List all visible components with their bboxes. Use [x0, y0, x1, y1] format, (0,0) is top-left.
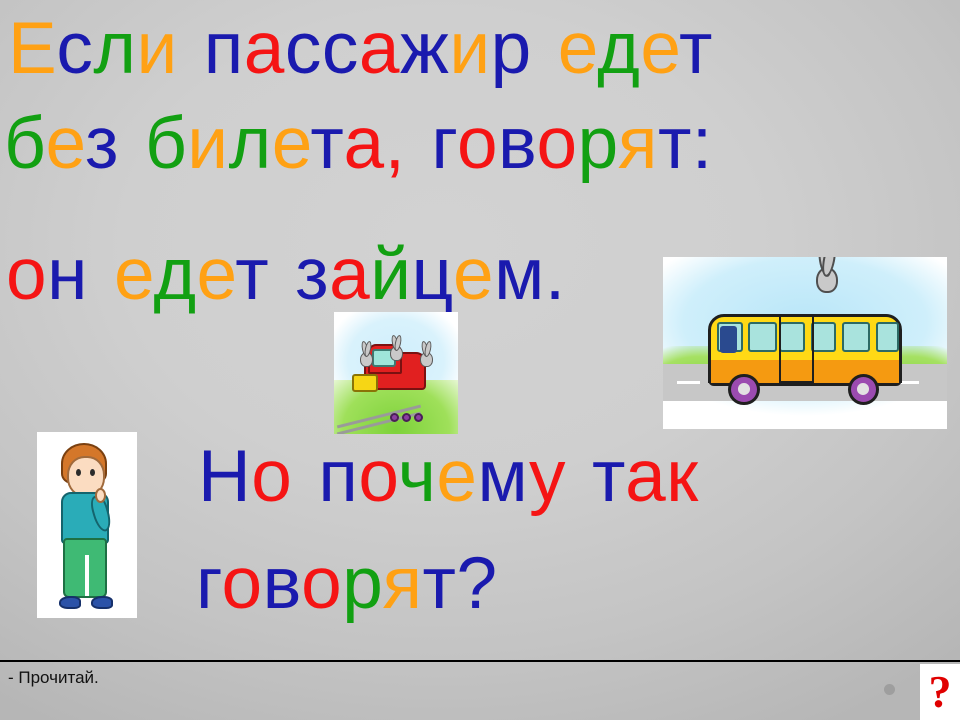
letter-т: т: [679, 8, 713, 89]
letter-с: с: [56, 8, 93, 89]
rabbit-icon: [420, 352, 433, 367]
boy-shoe: [91, 596, 113, 609]
letter-е: е: [197, 234, 236, 315]
letter-е: е: [453, 234, 494, 315]
letter-Е: Е: [8, 8, 56, 89]
letter-з: з: [85, 103, 119, 184]
letter-п: п: [318, 436, 358, 517]
letter-,: ,: [385, 103, 406, 184]
letter-с: с: [322, 8, 359, 89]
letter-м: м: [478, 436, 530, 517]
text-line-5: говорят?: [196, 547, 498, 620]
text-line-2: безбилета,говорят:: [4, 107, 713, 180]
letter-е: е: [640, 8, 679, 89]
image-thinking-boy: [37, 432, 137, 618]
letter-н: н: [47, 234, 88, 315]
letter-о: о: [537, 103, 578, 184]
letter-в: в: [263, 543, 301, 624]
letter-а: а: [344, 103, 385, 184]
letter-д: д: [597, 8, 640, 89]
train-wheel: [414, 413, 423, 422]
letter-.: .: [545, 234, 566, 315]
footer-divider: [0, 660, 960, 662]
letter-и: и: [187, 103, 228, 184]
letter-я: я: [383, 543, 423, 624]
rabbit-icon: [816, 267, 838, 293]
road-marking: [677, 381, 700, 384]
question-mark-glyph: ?: [929, 669, 952, 715]
letter-а: а: [329, 234, 370, 315]
bus-driver: [720, 326, 737, 354]
bus-door: [779, 315, 813, 382]
letter-г: г: [431, 103, 457, 184]
letter-р: р: [342, 543, 382, 624]
letter-б: б: [4, 103, 46, 184]
letter-ц: ц: [412, 234, 454, 315]
letter-о: о: [358, 436, 398, 517]
letter-е: е: [272, 103, 311, 184]
letter-а: а: [244, 8, 285, 89]
bus-window: [842, 322, 870, 351]
letter-т: т: [310, 103, 343, 184]
letter-в: в: [498, 103, 536, 184]
letter-и: и: [136, 8, 177, 89]
letter-к: к: [666, 436, 698, 517]
letter-з: з: [295, 234, 329, 315]
letter-г: г: [196, 543, 222, 624]
letter-л: л: [229, 103, 272, 184]
text-line-1: Еслипассажиредет: [8, 12, 713, 85]
rabbit-icon: [360, 352, 373, 367]
letter-о: о: [6, 234, 47, 315]
image-train-with-rabbits: [334, 312, 458, 434]
letter-б: б: [145, 103, 187, 184]
letter-?: ?: [456, 543, 497, 624]
letter-й: й: [370, 234, 411, 315]
boy-shoe: [59, 596, 81, 609]
rabbit-icon: [390, 346, 403, 361]
letter-Н: Н: [198, 436, 251, 517]
letter-о: о: [251, 436, 292, 517]
letter-я: я: [618, 103, 658, 184]
letter-о: о: [457, 103, 498, 184]
image-bus-with-rabbit: [663, 257, 947, 429]
letter-т: т: [423, 543, 457, 624]
letter-т: т: [658, 103, 692, 184]
train-front-grille: [352, 374, 378, 392]
bus-window: [876, 322, 899, 351]
letter-п: п: [204, 8, 244, 89]
letter-и: и: [449, 8, 490, 89]
letter-е: е: [114, 234, 154, 315]
letter-м: м: [494, 234, 545, 315]
text-line-4: Нопочемутак: [198, 440, 699, 513]
bus-wheel: [728, 374, 759, 405]
footer-note: - Прочитай.: [8, 668, 99, 688]
train-wheel: [390, 413, 399, 422]
letter-д: д: [153, 234, 196, 315]
letter-е: е: [436, 436, 477, 517]
footer-bullet-dot[interactable]: [884, 684, 895, 695]
letter-у: у: [529, 436, 566, 517]
letter-е: е: [46, 103, 86, 184]
letter-е: е: [558, 8, 598, 89]
bus-wheel: [848, 374, 879, 405]
letter-а: а: [359, 8, 400, 89]
letter-а: а: [625, 436, 666, 517]
letter-т: т: [235, 234, 269, 315]
boy-hand: [95, 488, 106, 503]
bus-window: [811, 322, 837, 351]
letter-р: р: [491, 8, 532, 89]
text-line-3: онедетзайцем.: [6, 238, 566, 311]
letter-о: о: [301, 543, 342, 624]
letter-л: л: [93, 8, 136, 89]
help-question-icon[interactable]: ?: [920, 664, 960, 720]
letter-о: о: [222, 543, 263, 624]
letter-с: с: [285, 8, 322, 89]
letter-т: т: [592, 436, 625, 517]
letter-ж: ж: [400, 8, 449, 89]
train-wheel: [402, 413, 411, 422]
bus-window: [748, 322, 776, 351]
letter-ч: ч: [398, 436, 437, 517]
letter-р: р: [578, 103, 618, 184]
boy-leg-gap: [85, 555, 89, 596]
letter-:: :: [692, 103, 713, 184]
